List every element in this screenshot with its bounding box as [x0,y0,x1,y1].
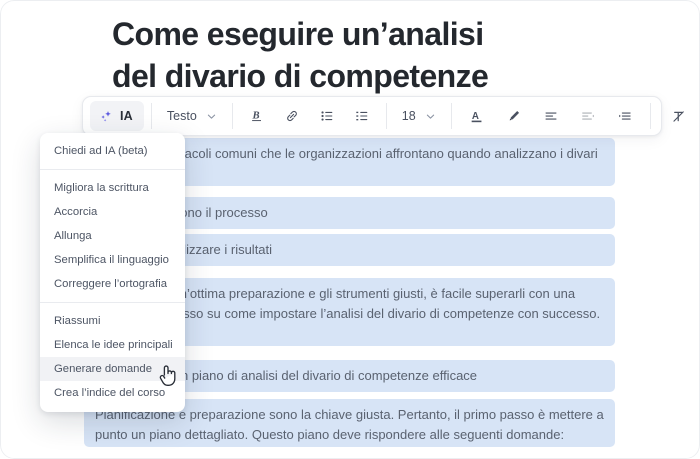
menu-divider [40,302,185,303]
ai-button[interactable]: IA [90,101,144,131]
text-style-label: Testo [167,109,197,123]
indent-decrease-icon [580,108,596,124]
text-style-dropdown[interactable]: Testo [159,102,225,130]
indent-decrease-button[interactable] [574,102,602,130]
text-color-button[interactable]: A [463,102,491,130]
link-icon [284,108,300,124]
menu-item-label: Elenca le idee principali [54,339,173,351]
svg-text:A: A [472,111,479,122]
indent-increase-button[interactable] [611,102,639,130]
paragraph-text: Pianificazione e preparazione sono la ch… [95,407,604,442]
page-title-line-2: del divario di competenze [112,56,632,98]
menu-divider [40,169,185,170]
indent-increase-icon [617,108,633,124]
highlighter-icon [506,108,522,124]
chevron-down-icon [421,111,436,122]
font-size-label: 18 [402,109,416,123]
toolbar-group-style: Testo [152,97,232,135]
align-left-icon [543,108,559,124]
text-color-icon: A [469,108,485,125]
ai-dropdown-menu: Chiedi ad IA (beta) Migliora la scrittur… [40,133,185,412]
menu-item-label: Allunga [54,230,92,242]
align-left-button[interactable] [537,102,565,130]
menu-item-simplify-language[interactable]: Semplifica il linguaggio [40,248,185,272]
toolbar-group-color-align: A [452,97,650,135]
bulleted-list-icon [319,108,335,124]
app-window: Come eseguire un’analisi del divario di … [0,0,700,459]
menu-item-label: Crea l’indice del corso [54,387,165,399]
menu-item-label: Semplifica il linguaggio [54,254,169,266]
menu-item-summarize[interactable]: Riassumi [40,309,185,333]
chevron-down-icon [202,111,217,122]
font-size-dropdown[interactable]: 18 [394,102,444,130]
sparkles-icon [99,109,114,124]
toolbar-group-ai: IA [83,97,151,135]
clear-formatting-icon [670,108,687,125]
page-title: Come eseguire un’analisi del divario di … [112,14,632,97]
menu-item-list-key-ideas[interactable]: Elenca le idee principali [40,333,185,357]
bold-underline-icon: B [249,108,265,124]
ai-button-label: IA [120,109,133,123]
clear-formatting-button[interactable] [664,102,693,130]
link-button[interactable] [278,102,306,130]
menu-item-shorten[interactable]: Accorcia [40,200,185,224]
menu-item-ask-ai[interactable]: Chiedi ad IA (beta) [40,139,185,163]
menu-item-label: Generare domande [54,363,152,375]
menu-item-label: Migliora la scrittura [54,182,149,194]
menu-item-label: Correggere l’ortografia [54,278,167,290]
toolbar-group-format: B [233,97,386,135]
menu-item-generate-questions[interactable]: Generare domande [40,357,185,381]
menu-item-lengthen[interactable]: Allunga [40,224,185,248]
menu-item-improve-writing[interactable]: Migliora la scrittura [40,176,185,200]
menu-item-fix-spelling[interactable]: Correggere l’ortografia [40,272,185,296]
menu-item-label: Chiedi ad IA (beta) [54,145,148,157]
menu-item-create-course-index[interactable]: Crea l’indice del corso [40,381,185,405]
bold-button[interactable]: B [243,102,271,130]
svg-text:B: B [251,111,259,122]
page-title-line-1: Come eseguire un’analisi [112,14,632,56]
numbered-list-icon [354,108,370,124]
toolbar-group-clear [651,97,700,135]
highlighter-button[interactable] [500,102,528,130]
toolbar-group-fontsize: 18 [387,97,451,135]
menu-item-label: Accorcia [54,206,97,218]
numbered-list-button[interactable] [348,102,376,130]
editor-toolbar: IA Testo B [82,96,662,136]
menu-item-label: Riassumi [54,315,100,327]
bulleted-list-button[interactable] [313,102,341,130]
